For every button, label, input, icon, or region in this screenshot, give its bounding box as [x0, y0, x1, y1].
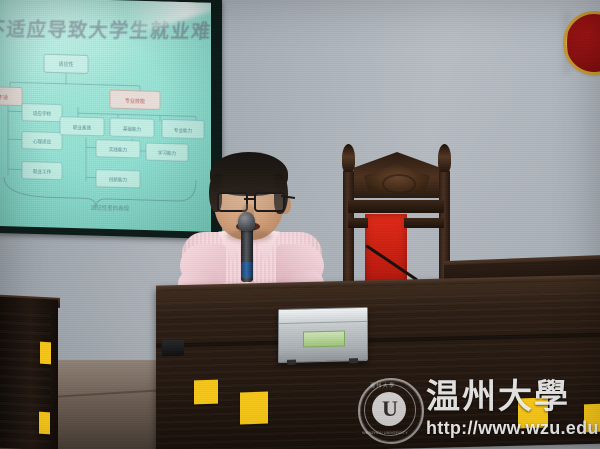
chair-finial-right [438, 144, 451, 172]
safety-marker-cabinet-lower [39, 412, 50, 435]
chair-top-rail [348, 200, 444, 213]
photo-scene: 不适应导致大学生就业难 [0, 0, 600, 449]
national-emblem-icon [566, 14, 600, 72]
case-label [303, 330, 345, 347]
safety-marker-bench-far-right [584, 404, 600, 433]
safety-marker-cabinet-upper [40, 342, 51, 365]
chair-side-rail-left [348, 218, 368, 228]
safety-marker-bench-left [194, 380, 218, 405]
glasses-bridge [244, 198, 256, 200]
chair-finial-left [342, 144, 355, 172]
microphone-band [241, 262, 253, 278]
safety-marker-bench-right [518, 397, 548, 428]
small-black-object [162, 340, 184, 357]
emblem-wheat-inner [566, 24, 581, 62]
case-foot [349, 358, 358, 363]
chair-side-rail-right [404, 218, 444, 228]
metal-equipment-case [278, 307, 368, 363]
case-foot [287, 360, 296, 365]
chair-carving [382, 174, 416, 194]
safety-marker-bench-center [240, 392, 268, 425]
case-lid [279, 308, 367, 324]
microphone-head-icon [238, 212, 255, 231]
